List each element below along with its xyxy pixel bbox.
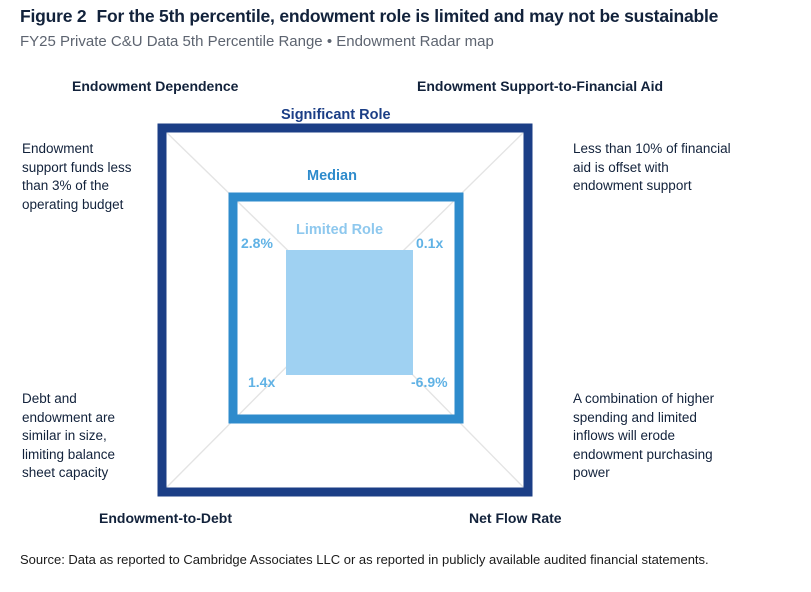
annotation-top-right: Less than 10% of financial aid is offset… <box>573 140 733 196</box>
figure-title-text: For the 5th percentile, endowment role i… <box>96 6 718 26</box>
ring-limited-role <box>286 250 413 375</box>
page-title: Figure 2For the 5th percentile, endowmen… <box>20 6 718 27</box>
endowment-radar-chart: Endowment Dependence Endowment Support-t… <box>0 60 811 540</box>
axis-label-endowment-support-to-financial-aid: Endowment Support-to-Financial Aid <box>417 78 663 94</box>
value-label-endowment-support-to-financial-aid: 0.1x <box>416 235 443 251</box>
axis-label-endowment-dependence: Endowment Dependence <box>72 78 238 94</box>
value-label-net-flow-rate: -6.9% <box>411 374 448 390</box>
value-label-endowment-to-debt: 1.4x <box>248 374 275 390</box>
annotation-bottom-left: Debt and endowment are similar in size, … <box>22 390 142 483</box>
figure-number: Figure 2 <box>20 6 86 26</box>
annotation-bottom-right: A combination of higher spending and lim… <box>573 390 725 483</box>
ring-label-significant-role: Significant Role <box>281 107 391 123</box>
ring-label-limited-role: Limited Role <box>296 222 383 238</box>
source-note: Source: Data as reported to Cambridge As… <box>20 552 709 567</box>
value-label-endowment-dependence: 2.8% <box>241 235 273 251</box>
figure-subtitle: FY25 Private C&U Data 5th Percentile Ran… <box>20 33 494 50</box>
axis-label-net-flow-rate: Net Flow Rate <box>469 510 562 526</box>
axis-label-endowment-to-debt: Endowment-to-Debt <box>99 510 232 526</box>
ring-label-median: Median <box>307 168 357 184</box>
annotation-top-left: Endowment support funds less than 3% of … <box>22 140 140 214</box>
